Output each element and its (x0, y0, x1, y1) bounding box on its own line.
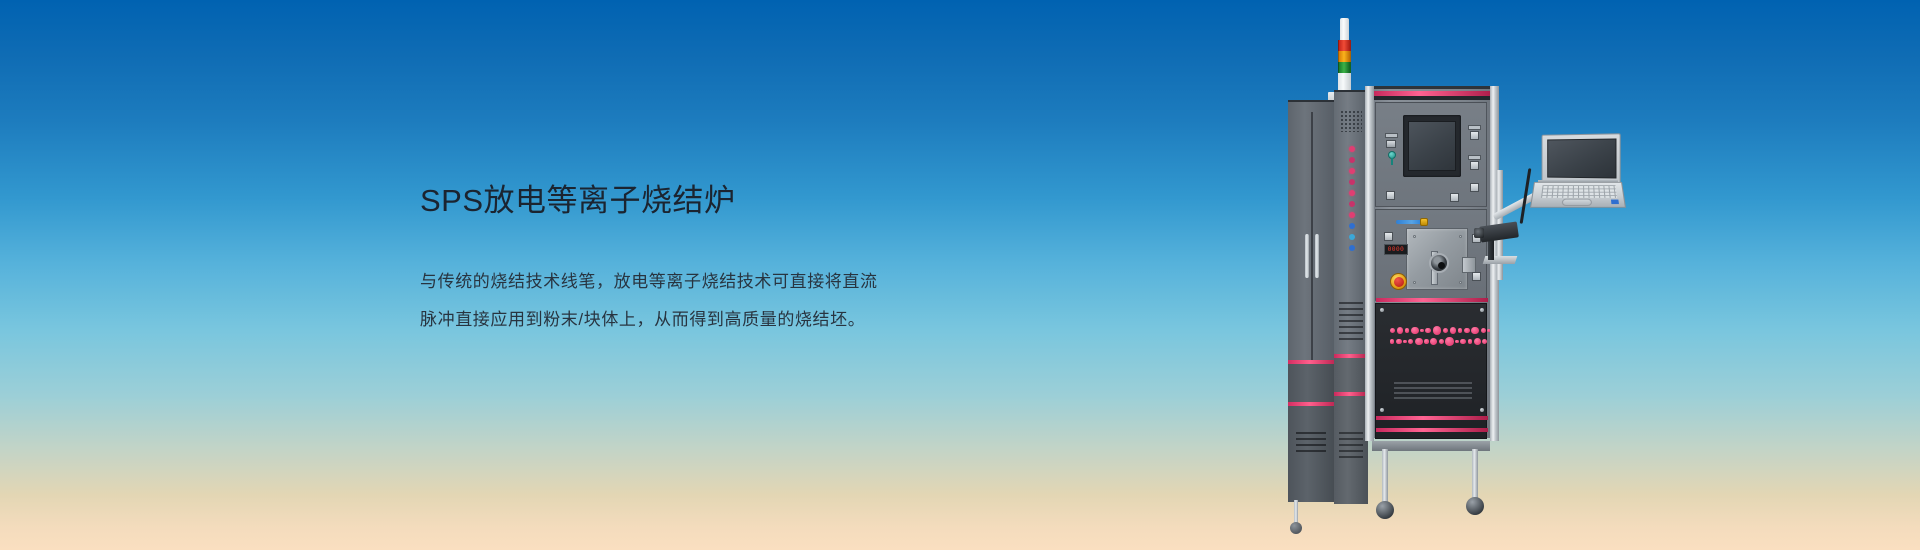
louver-vent (1339, 432, 1363, 458)
accent-stripe (1376, 416, 1488, 420)
camera-lens-icon (1474, 228, 1484, 238)
dot-decal (1458, 328, 1462, 332)
dot-decal (1403, 340, 1406, 343)
panel-screw (1380, 308, 1384, 312)
led-indicator (1349, 212, 1355, 218)
dot-decal (1411, 327, 1419, 335)
sps-furnace-image: 0000 (1288, 18, 1638, 508)
cabinet-caster (1290, 522, 1302, 534)
panel-button[interactable] (1450, 193, 1459, 202)
perforated-grille (1340, 110, 1362, 132)
dot-decal (1471, 327, 1479, 335)
dot-decal (1408, 339, 1413, 344)
panel-button[interactable] (1386, 191, 1395, 200)
panel-button[interactable] (1470, 161, 1479, 170)
dot-decal (1481, 328, 1486, 333)
chamber-panel: 0000 (1375, 209, 1487, 301)
page-title: SPS放电等离子烧结炉 (420, 182, 1060, 221)
accent-stripe (1288, 360, 1336, 364)
banner-description: 与传统的烧结技术线笔，放电等离子烧结技术可直接将直流 脉冲直接应用到粉末/块体上… (420, 263, 1060, 339)
accent-stripe (1334, 392, 1368, 396)
estop-cap (1394, 277, 1404, 287)
led-indicator (1349, 201, 1355, 207)
dot-decal (1390, 339, 1394, 343)
accent-stripe (1288, 402, 1336, 406)
led-indicator (1349, 146, 1355, 152)
cabinet-leg (1346, 502, 1351, 550)
top-trim-bar (1372, 96, 1490, 100)
vacuum-chamber-door[interactable] (1406, 228, 1468, 290)
dot-decal (1439, 339, 1444, 344)
vent-slot (1296, 444, 1326, 446)
dot-decal (1460, 339, 1466, 345)
dot-decal (1390, 328, 1395, 333)
panel-screw (1380, 408, 1384, 412)
door-bolt (1459, 235, 1462, 238)
dot-decal (1450, 327, 1457, 334)
panel-label (1468, 125, 1481, 130)
panel-screw (1480, 308, 1484, 312)
led-indicator (1349, 245, 1355, 251)
cabinet-handle-left (1305, 234, 1309, 278)
louver-vent (1394, 382, 1472, 402)
dot-decal (1445, 337, 1454, 346)
laptop-badge (1611, 200, 1619, 205)
signal-lamp-green-icon (1338, 62, 1351, 73)
dot-decal (1482, 339, 1487, 344)
door-latch[interactable] (1462, 257, 1476, 273)
lower-cabinet (1375, 303, 1487, 439)
panel-button[interactable] (1384, 232, 1393, 241)
cabinet-leg (1382, 449, 1388, 509)
description-line-1: 与传统的烧结技术线笔，放电等离子烧结技术可直接将直流 (420, 263, 1060, 301)
description-line-2: 脉冲直接应用到粉末/块体上，从而得到高质量的烧结坯。 (420, 301, 1060, 339)
door-bolt (1459, 281, 1462, 284)
dot-decal (1468, 339, 1472, 343)
signal-lamp-red-icon (1338, 40, 1351, 51)
vent-slot (1296, 450, 1326, 452)
knob-stem (1391, 158, 1393, 165)
door-bolt (1413, 281, 1416, 284)
accent-stripe (1334, 354, 1368, 358)
dot-decal (1396, 339, 1402, 345)
panel-button[interactable] (1472, 272, 1481, 281)
banner-copy: SPS放电等离子烧结炉 与传统的烧结技术线笔，放电等离子烧结技术可直接将直流 脉… (420, 182, 1060, 339)
dot-decal (1433, 326, 1442, 335)
dot-decal (1474, 338, 1481, 345)
side-cabinet (1334, 90, 1368, 430)
rear-cabinet (1288, 100, 1336, 418)
cabinet-handle-right (1315, 234, 1319, 278)
temperature-readout: 0000 (1384, 244, 1408, 255)
dot-decal (1464, 328, 1470, 334)
door-bolt (1413, 235, 1416, 238)
cabinet-caster (1376, 501, 1394, 519)
cabinet-caster (1466, 497, 1484, 515)
dot-decal (1443, 328, 1448, 333)
dot-pattern-decal (1390, 326, 1476, 348)
dot-decal (1424, 339, 1428, 343)
hero-banner: SPS放电等离子烧结炉 与传统的烧结技术线笔，放电等离子烧结技术可直接将直流 脉… (0, 0, 1920, 550)
hmi-display-bezel (1403, 115, 1461, 177)
readout-value: 0000 (1388, 246, 1404, 253)
accent-stripe (1376, 428, 1488, 432)
laptop-base (1530, 182, 1626, 208)
vent-slot (1296, 438, 1326, 440)
dot-decal (1415, 338, 1423, 346)
viewport-glass (1438, 262, 1445, 269)
led-indicator (1349, 179, 1355, 185)
dot-decal (1430, 338, 1437, 345)
side-cabinet-lower (1334, 358, 1368, 504)
accent-stripe (1376, 298, 1488, 302)
panel-label (1385, 133, 1398, 138)
panel-button[interactable] (1470, 183, 1479, 192)
cabinet-door-seam (1311, 112, 1313, 362)
frame-extrusion-left (1365, 86, 1374, 441)
panel-button[interactable] (1470, 131, 1479, 140)
led-indicator (1349, 157, 1355, 163)
vent-slot (1296, 432, 1326, 434)
laptop-lid (1542, 133, 1621, 184)
dot-decal (1425, 328, 1431, 334)
valve-knob[interactable] (1420, 218, 1428, 226)
laptop-screen[interactable] (1547, 138, 1616, 178)
dot-decal (1420, 329, 1423, 332)
emergency-stop-button[interactable] (1390, 273, 1407, 290)
main-cabinet: 0000 (1366, 86, 1498, 438)
led-indicator (1349, 190, 1355, 196)
signal-lamp-amber-icon (1338, 51, 1351, 62)
indicator-led-column (1343, 146, 1361, 251)
chamber-viewport (1429, 253, 1449, 273)
led-indicator (1349, 223, 1355, 229)
dot-decal (1405, 328, 1409, 332)
led-indicator (1349, 168, 1355, 174)
led-indicator (1349, 234, 1355, 240)
dot-decal (1397, 327, 1404, 334)
operator-laptop[interactable] (1530, 134, 1622, 218)
laptop-trackpad[interactable] (1562, 199, 1592, 206)
gas-valve-handle[interactable] (1396, 220, 1422, 224)
hmi-display[interactable] (1408, 121, 1456, 171)
dot-decal (1455, 340, 1458, 343)
laptop-keyboard[interactable] (1541, 185, 1617, 198)
panel-screw (1480, 408, 1484, 412)
panel-label (1468, 155, 1481, 160)
toggle-switch[interactable] (1386, 140, 1396, 148)
control-panel (1375, 102, 1487, 207)
vent-block (1339, 302, 1363, 342)
